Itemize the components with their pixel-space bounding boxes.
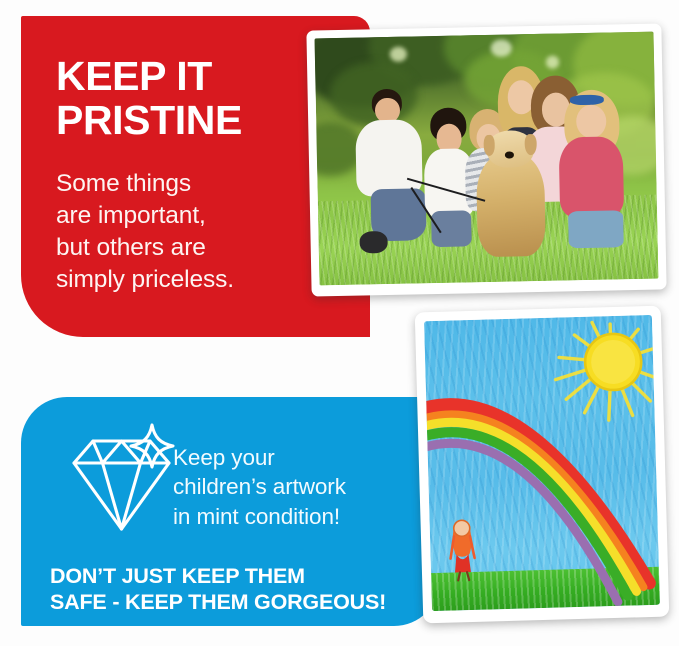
blue-panel-cta: DON’T JUST KEEP THEM SAFE - KEEP THEM GO… (50, 563, 440, 615)
blue-panel-subhead: Keep your children’s artwork in mint con… (173, 443, 433, 531)
blue-sub-line-2: children’s artwork (173, 472, 433, 501)
cta-line-2: SAFE - KEEP THEM GORGEOUS! (50, 589, 440, 615)
blue-sub-line-3: in mint condition! (173, 502, 433, 531)
red-panel-body-text: Some things are important, but others ar… (56, 168, 346, 295)
family-photo-image (315, 32, 659, 286)
blue-promo-panel: Keep your children’s artwork in mint con… (21, 397, 440, 626)
childrens-crayon-artwork-photo (415, 306, 670, 624)
diamond-sparkle-icon (66, 417, 184, 539)
cta-line-1: DON’T JUST KEEP THEM (50, 563, 440, 589)
poster-canvas: KEEP IT PRISTINE Some things are importa… (0, 0, 679, 646)
red-body-line-1: Some things (56, 168, 346, 200)
blue-sub-line-1: Keep your (173, 443, 433, 472)
family-with-dog-photo (306, 23, 666, 296)
red-body-line-2: are important, (56, 200, 346, 232)
artwork-image (424, 315, 660, 611)
red-body-line-3: but others are (56, 232, 346, 264)
red-body-line-4: simply priceless. (56, 264, 346, 296)
